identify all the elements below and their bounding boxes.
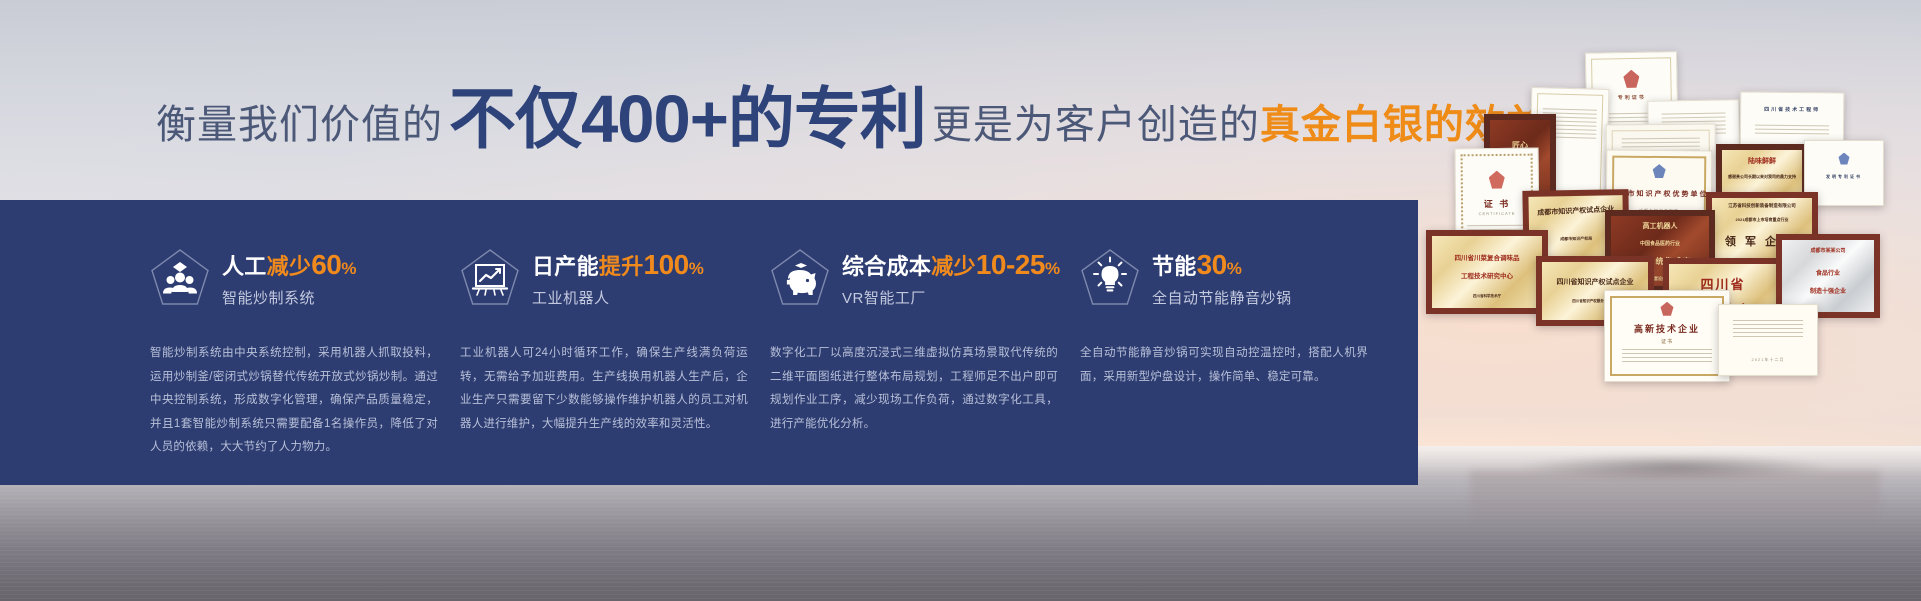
feature-title-unit-4: % (1227, 259, 1242, 278)
feature-column-3: 综合成本减少10-25% VR智能工厂 数字化工厂以高度沉浸式三维虚拟仿真场景取… (770, 200, 1080, 485)
feature-column-1: 人工减少60% 智能炒制系统 智能炒制系统由中央系统控制，采用机器人抓取投料，运… (150, 200, 460, 485)
headline-mid: 更是为客户创造的 (932, 105, 1260, 145)
feature-body-4: 全自动节能静音炒锅可实现自动控温控时，搭配人机界面，采用新型炉盘设计，操作简单、… (1080, 342, 1368, 389)
feature-title-unit-1: % (341, 259, 356, 278)
chart-board-icon (460, 248, 520, 310)
feature-title-1: 人工减少60% (222, 250, 357, 279)
feature-title-unit-3: % (1045, 259, 1060, 278)
feature-title-unit-2: % (689, 259, 704, 278)
feature-title-accent-3: 减少 (931, 254, 976, 279)
headline-lead: 衡量我们价值的 (156, 105, 443, 145)
certificate-item: 高新技术企业 证书 (1604, 290, 1730, 382)
feature-title-number-2: 100 (644, 249, 689, 280)
feature-panel: 人工减少60% 智能炒制系统 智能炒制系统由中央系统控制，采用机器人抓取投料，运… (0, 200, 1418, 485)
piggy-bank-icon (770, 248, 830, 310)
feature-body-2: 工业机器人可24小时循环工作，确保生产线满负荷运转，无需给予加班费用。生产线换用… (460, 342, 748, 436)
feature-title-3: 综合成本减少10-25% (842, 250, 1060, 279)
feature-subtitle-2: 工业机器人 (532, 287, 704, 308)
feature-column-4: 节能30% 全自动节能静音炒锅 全自动节能静音炒锅可实现自动控温控时，搭配人机界… (1080, 200, 1390, 485)
award-plaque: 四川省川菜复合调味品 工程技术研究中心 四川省科学技术厅 (1426, 230, 1548, 314)
feature-title-prefix-1: 人工 (222, 254, 267, 279)
feature-title-number-1: 60 (311, 249, 341, 280)
feature-column-2: 日产能提升100% 工业机器人 工业机器人可24小时循环工作，确保生产线满负荷运… (460, 200, 770, 485)
feature-title-accent-1: 减少 (267, 254, 312, 279)
lightbulb-icon (1080, 248, 1140, 310)
award-certificate-pile: 专利证书 匠心 榜样 2019成都知识产权局 四川省技术工程师 证 书 CERT… (1418, 52, 1921, 482)
feature-body-3: 数字化工厂以高度沉浸式三维虚拟仿真场景取代传统的二维平面图纸进行整体布局规划，工… (770, 342, 1058, 436)
headline-emphasis: 不仅400+的专利 (449, 86, 926, 153)
feature-title-4: 节能30% (1152, 250, 1292, 279)
feature-title-number-3: 10-25 (976, 249, 1045, 280)
feature-body-1: 智能炒制系统由中央系统控制，采用机器人抓取投料，运用炒制釜/密闭式炒锅替代传统开… (150, 342, 438, 460)
people-group-icon (150, 248, 210, 310)
feature-title-prefix-4: 节能 (1152, 254, 1197, 279)
headline: 衡量我们价值的 不仅400+的专利 更是为客户创造的 真金白银的效益 (156, 82, 1547, 149)
feature-title-2: 日产能提升100% (532, 250, 704, 279)
feature-title-number-4: 30 (1197, 249, 1227, 280)
feature-title-accent-2: 提升 (599, 254, 644, 279)
feature-title-prefix-3: 综合成本 (842, 254, 931, 279)
banner-stage: 衡量我们价值的 不仅400+的专利 更是为客户创造的 真金白银的效益 (0, 0, 1921, 601)
certificate-item: 2021年十二月 (1718, 304, 1818, 376)
feature-subtitle-4: 全自动节能静音炒锅 (1152, 287, 1292, 308)
feature-subtitle-1: 智能炒制系统 (222, 287, 357, 308)
feature-subtitle-3: VR智能工厂 (842, 287, 1060, 308)
feature-title-prefix-2: 日产能 (532, 254, 599, 279)
